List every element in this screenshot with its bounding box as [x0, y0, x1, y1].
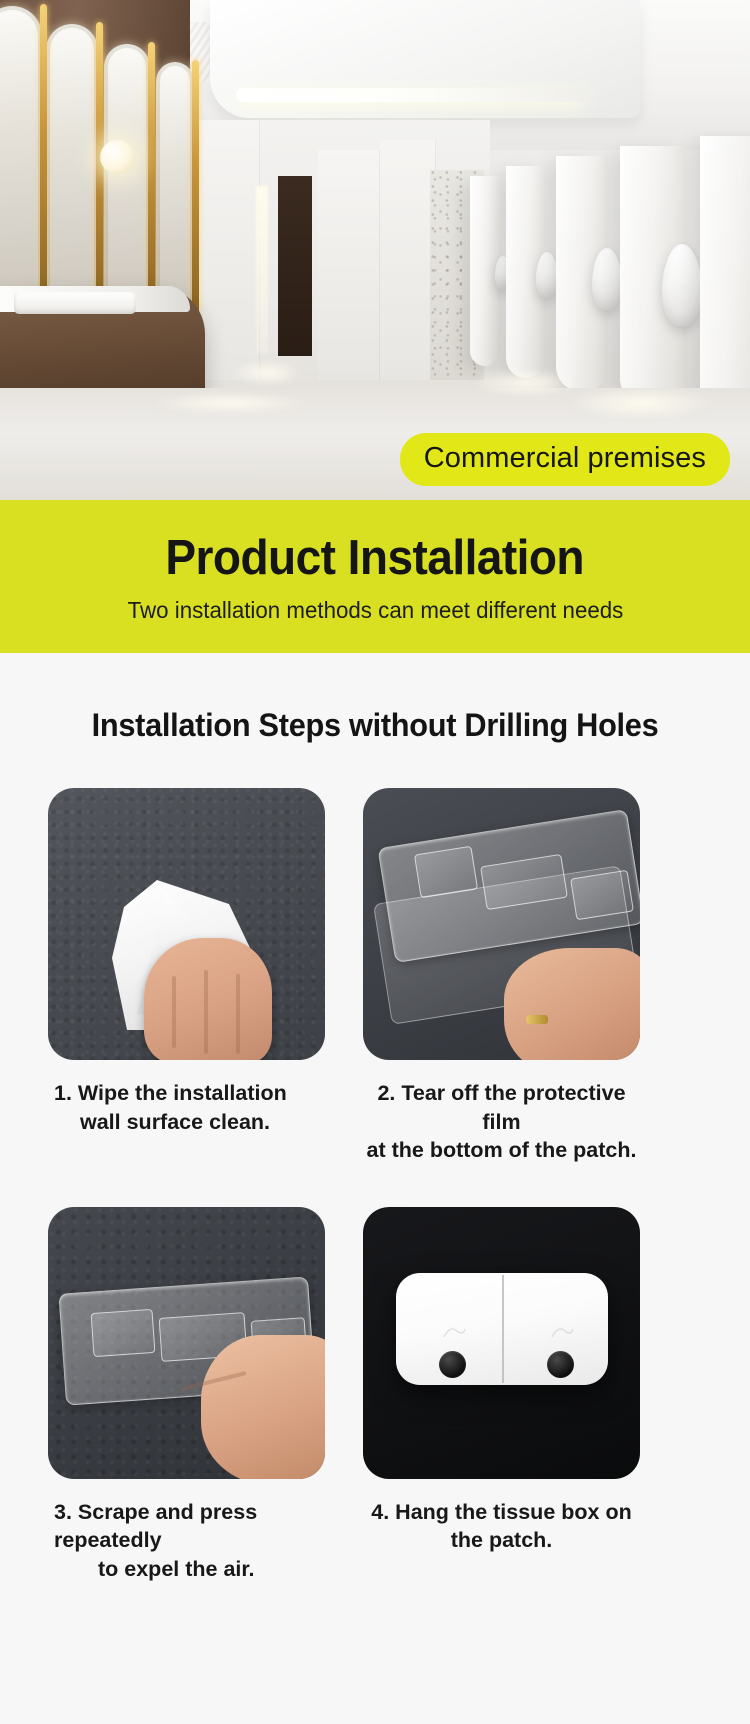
floor-reflection: [232, 360, 302, 386]
banner-title: Product Installation: [166, 530, 585, 586]
hand: [201, 1335, 325, 1479]
product-installation-page: Commercial premises Product Installation…: [0, 0, 750, 1724]
step-2-caption-line-2: at the bottom of the patch.: [363, 1136, 640, 1165]
gold-frame-trim: [192, 60, 199, 314]
step-3-caption: 3. Scrape and press repeatedly to expel …: [48, 1479, 325, 1610]
ceiling-light-strip: [236, 88, 586, 102]
step-card-4: 4. Hang the tissue box on the patch.: [363, 1207, 640, 1610]
step-1-caption-line-2: wall surface clean.: [54, 1108, 325, 1137]
corridor-light-slot: [256, 186, 268, 354]
step-1-caption: 1. Wipe the installation wall surface cl…: [48, 1060, 325, 1162]
dispenser-button[interactable]: [439, 1351, 466, 1378]
step-2-caption: 2. Tear off the protective film at the b…: [363, 1060, 640, 1191]
finger-separation: [204, 970, 208, 1054]
step-1-photo-wipe-wall: [48, 788, 325, 1060]
steps-grid: 1. Wipe the installation wall surface cl…: [48, 788, 702, 1610]
step-3-photo-press-patch: [48, 1207, 325, 1479]
finger-separation: [172, 976, 176, 1048]
gold-frame-trim: [96, 22, 103, 314]
step-2-photo-peel-film: [363, 788, 640, 1060]
patch-slot: [570, 870, 634, 921]
floor-reflection: [566, 386, 716, 420]
step-card-2: 2. Tear off the protective film at the b…: [363, 788, 640, 1191]
arched-mirror: [46, 24, 98, 312]
arched-mirror: [104, 44, 150, 314]
hand: [504, 948, 640, 1060]
step-2-caption-line-1: 2. Tear off the protective film: [363, 1079, 640, 1136]
patch-slot: [91, 1309, 156, 1357]
step-3-caption-line-1: 3. Scrape and press repeatedly: [54, 1498, 325, 1555]
patch-slot: [414, 846, 478, 899]
gold-frame-trim: [148, 42, 155, 316]
dispenser-button[interactable]: [547, 1351, 574, 1378]
step-3-caption-line-2: to expel the air.: [54, 1555, 325, 1584]
washbasin: [14, 292, 136, 314]
gold-ring: [526, 1015, 548, 1024]
step-4-caption-line-1: 4. Hang the tissue box on: [363, 1498, 640, 1527]
finger-separation: [236, 974, 240, 1054]
hand: [144, 938, 272, 1060]
embossed-logo-icon: [549, 1323, 575, 1343]
floor-reflection: [470, 368, 580, 398]
commercial-premises-badge: Commercial premises: [400, 433, 730, 486]
gold-frame-trim: [40, 4, 47, 310]
hero-photo-commercial-restroom: Commercial premises: [0, 0, 750, 500]
arched-mirror: [0, 6, 42, 306]
step-4-caption: 4. Hang the tissue box on the patch.: [363, 1479, 640, 1581]
step-4-photo-mounted-box: [363, 1207, 640, 1479]
embossed-logo-icon: [441, 1323, 467, 1343]
wall-panel: [380, 140, 436, 380]
installation-steps-section: Installation Steps without Drilling Hole…: [0, 653, 750, 1610]
urinal-divider: [700, 136, 750, 428]
wall-panel: [318, 150, 380, 380]
urinal: [592, 248, 622, 310]
arched-mirror: [156, 62, 194, 312]
step-1-caption-line-1: 1. Wipe the installation: [54, 1079, 325, 1108]
product-installation-banner: Product Installation Two installation me…: [0, 500, 750, 653]
step-card-1: 1. Wipe the installation wall surface cl…: [48, 788, 325, 1191]
step-4-caption-line-2: the patch.: [363, 1526, 640, 1555]
globe-sconce-light: [100, 140, 134, 174]
dark-wood-door: [278, 176, 312, 356]
urinal: [536, 252, 558, 298]
tissue-box-divider-line: [502, 1275, 504, 1383]
section-heading: Installation Steps without Drilling Hole…: [61, 653, 689, 788]
step-card-3: 3. Scrape and press repeatedly to expel …: [48, 1207, 325, 1610]
floor-reflection: [150, 392, 310, 414]
urinal: [662, 244, 702, 326]
banner-subtitle: Two installation methods can meet differ…: [127, 597, 623, 624]
